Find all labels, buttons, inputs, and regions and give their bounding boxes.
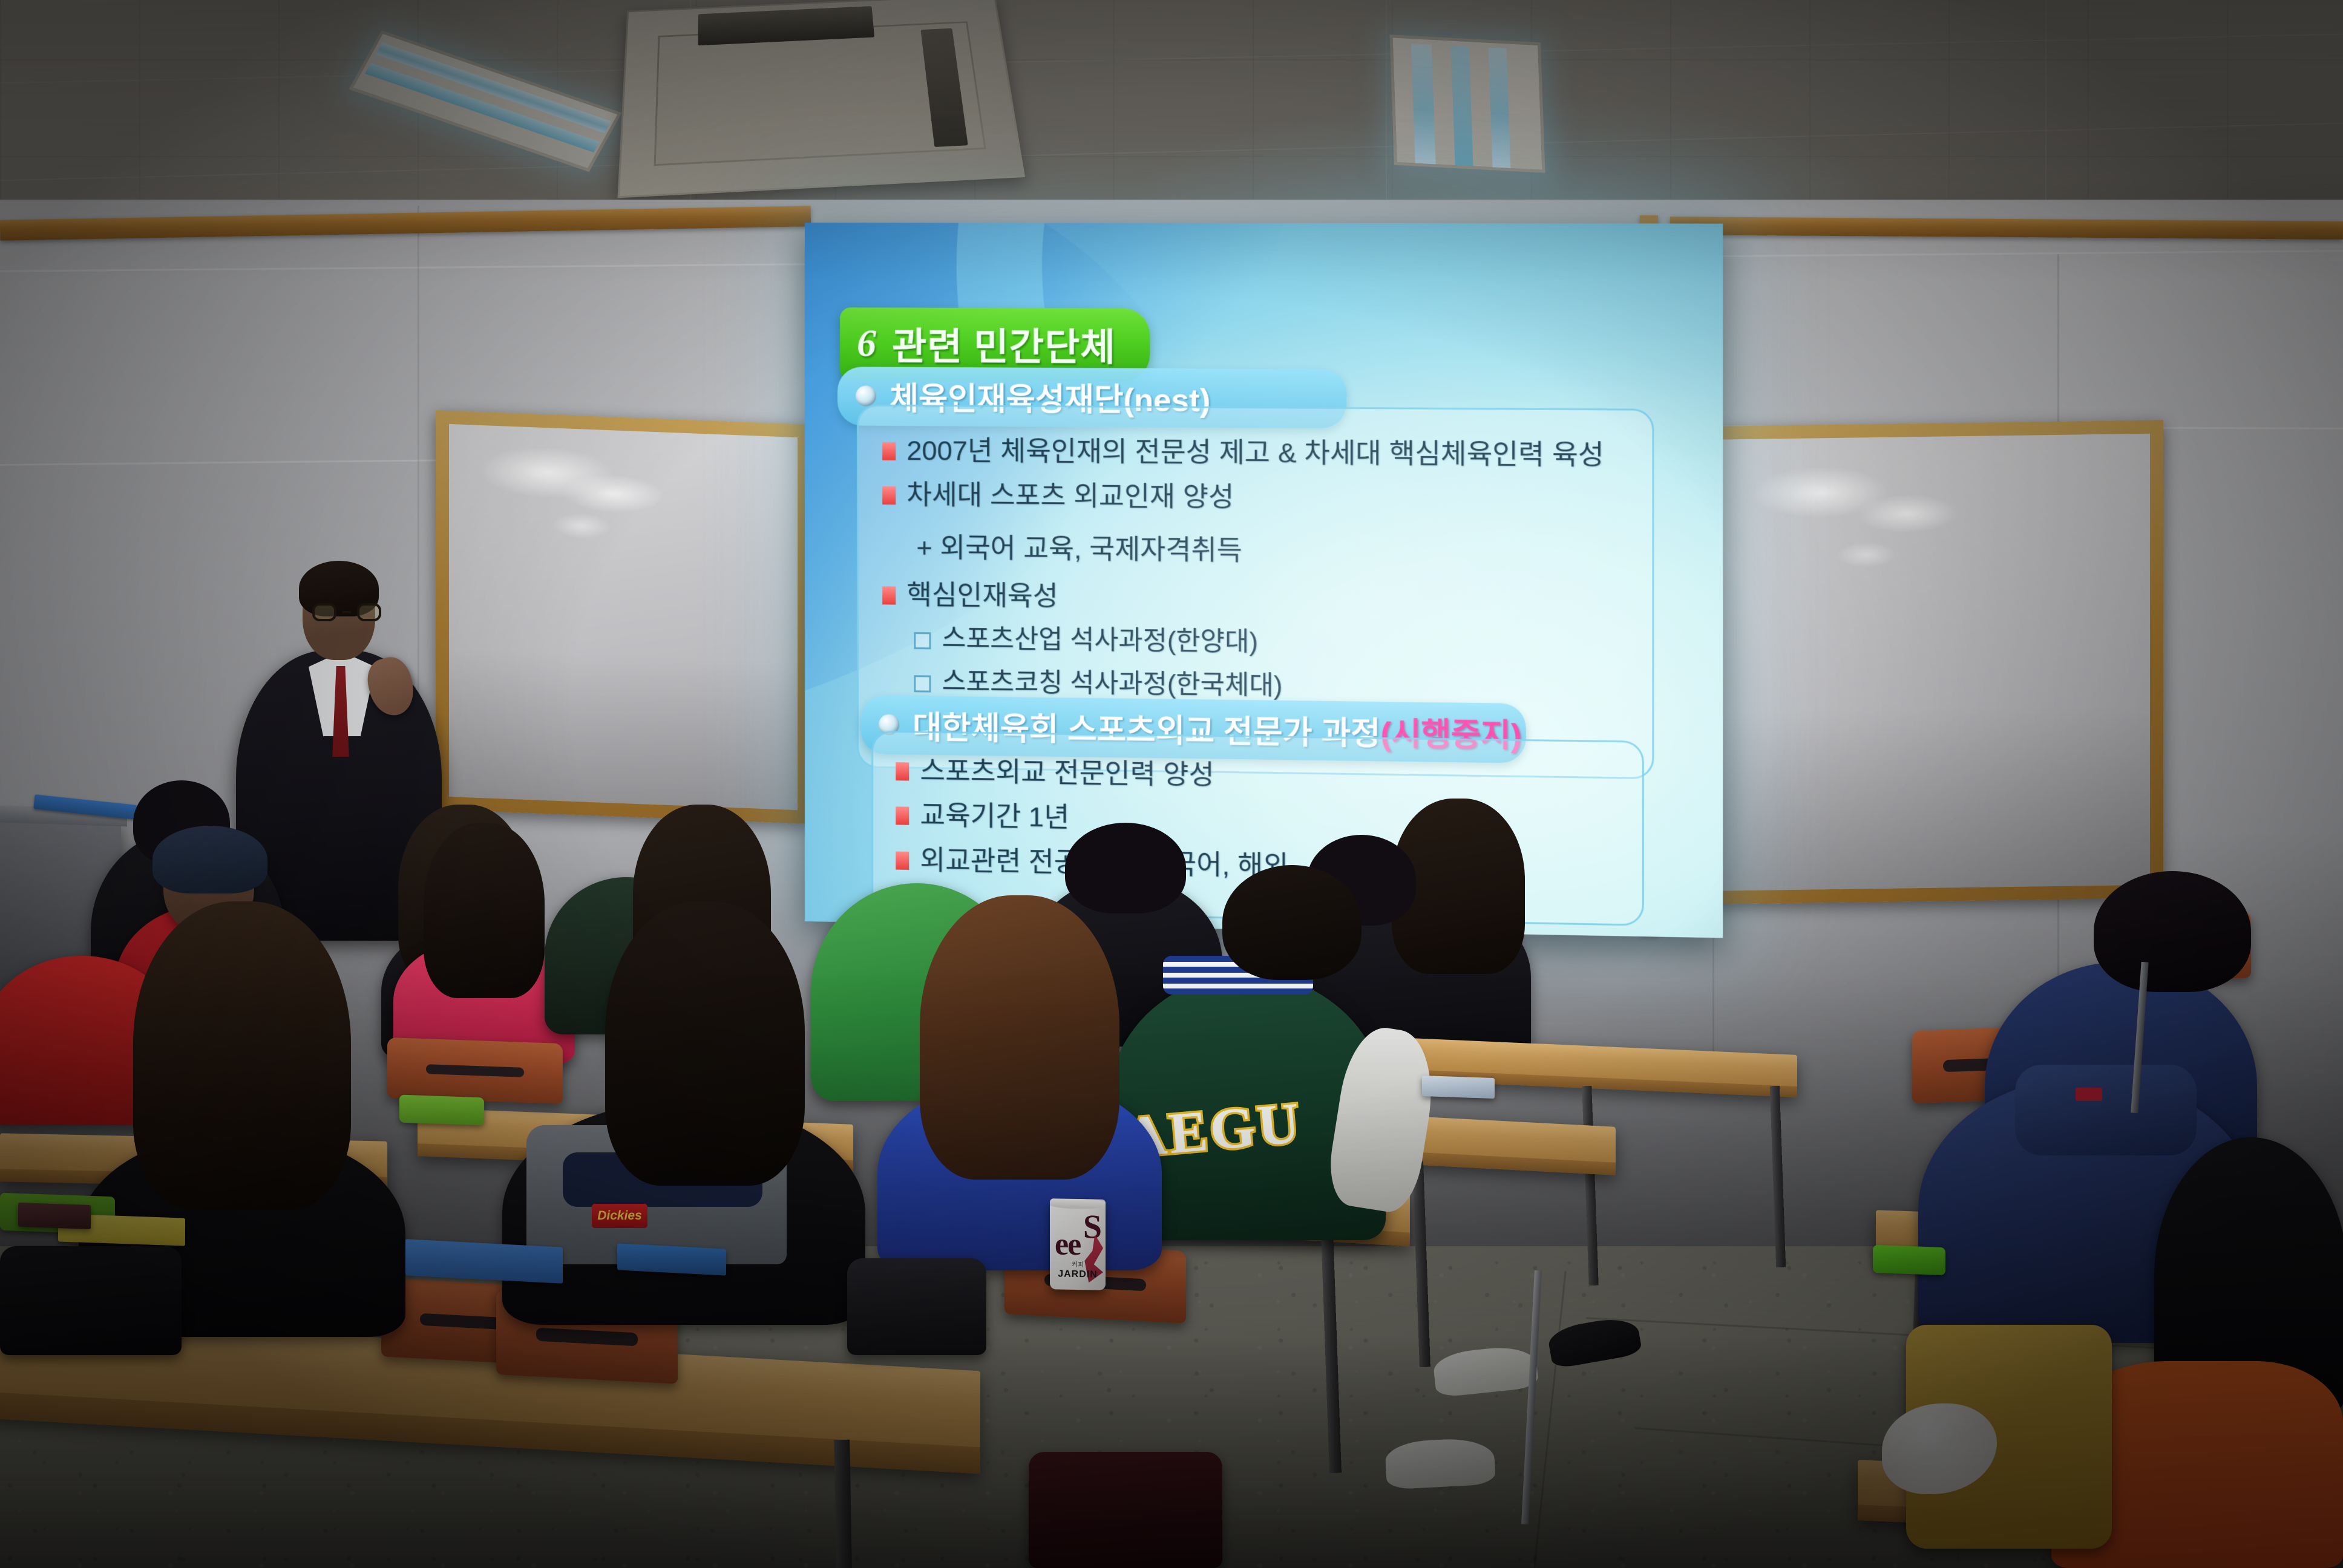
bag-on-chair[interactable]: [847, 1258, 986, 1355]
student-blue-jacket-brown-hair: [865, 895, 1180, 1270]
backpack[interactable]: [1029, 1452, 1222, 1568]
green-item-on-desk[interactable]: [399, 1095, 484, 1126]
fluorescent-light-fixture: [1389, 34, 1545, 173]
checkbox-bullet-icon: [914, 675, 931, 692]
slide-bullet: 2007년 체육인재의 전문성 제고 & 차세대 핵심체육인력 육성: [882, 436, 1649, 470]
slide-bullet-sub: + 외국어 교육, 국제자격취득: [882, 525, 1649, 572]
whiteboard-right: [1679, 420, 2163, 904]
blue-book[interactable]: [617, 1243, 726, 1275]
cup-brand-korean: 커피: [1050, 1259, 1106, 1270]
slide-section-1-bullets: 2007년 체육인재의 전문성 제고 & 차세대 핵심체육인력 육성 차세대 스…: [882, 436, 1649, 720]
cup-script-letter: S: [1083, 1207, 1102, 1247]
slide-title-number: 6: [857, 321, 876, 365]
hoodie-brand-tag: Dickies: [592, 1204, 647, 1228]
slide-bullet: 차세대 스포츠 외교인재 양성: [882, 480, 1649, 515]
varsity-jacket-sleeve: [1323, 1022, 1441, 1216]
student-hair: [2094, 871, 2251, 992]
square-bullet-icon: [896, 762, 909, 780]
square-bullet-icon: [882, 486, 896, 505]
checkbox-bullet-icon: [914, 632, 931, 649]
student-hair: [920, 895, 1119, 1180]
desk-leg: [834, 1440, 852, 1568]
coat-on-chair-mustard: [1870, 1295, 2124, 1549]
eyeglasses-icon: [312, 603, 381, 621]
square-bullet-icon: [882, 586, 896, 604]
slide-bullet-checkbox: 스포츠산업 석사과정(한양대): [882, 624, 1649, 661]
ceiling-tile-seam: [2045, 0, 2046, 218]
bag-front-left[interactable]: [0, 1246, 182, 1355]
green-notebook-right[interactable]: [1873, 1245, 1945, 1275]
student-hair: [605, 901, 805, 1186]
coffee-cup[interactable]: S ee 커피 JARDIN: [1050, 1198, 1106, 1290]
baseball-cap-icon: [152, 826, 267, 893]
slide-bullet: 핵심인재육성: [882, 580, 1649, 617]
cup-brand: JARDIN: [1050, 1269, 1106, 1281]
student-hair: [1222, 865, 1362, 980]
presentation-slide: 6 관련 민간단체 체육인재육성재단(nest) 2007년 체육인재의 전문성…: [805, 223, 1723, 938]
phone-on-desk[interactable]: [18, 1203, 91, 1229]
jacket-logo: [2076, 1088, 2102, 1101]
projection-screen: 6 관련 민간단체 체육인재육성재단(nest) 2007년 체육인재의 전문성…: [805, 223, 1723, 938]
pearl-bullet-icon: [856, 385, 876, 406]
ceiling-air-conditioner: [617, 0, 1025, 198]
slide-title-text: 관련 민간단체: [892, 316, 1116, 371]
cup-large-letters: ee: [1055, 1226, 1080, 1263]
square-bullet-icon: [882, 442, 896, 460]
classroom-photo-scene: 6 관련 민간단체 체육인재육성재단(nest) 2007년 체육인재의 전문성…: [0, 0, 2343, 1568]
paper-on-desk[interactable]: [1422, 1076, 1495, 1099]
square-bullet-icon: [896, 807, 909, 825]
student-hair: [133, 901, 351, 1210]
